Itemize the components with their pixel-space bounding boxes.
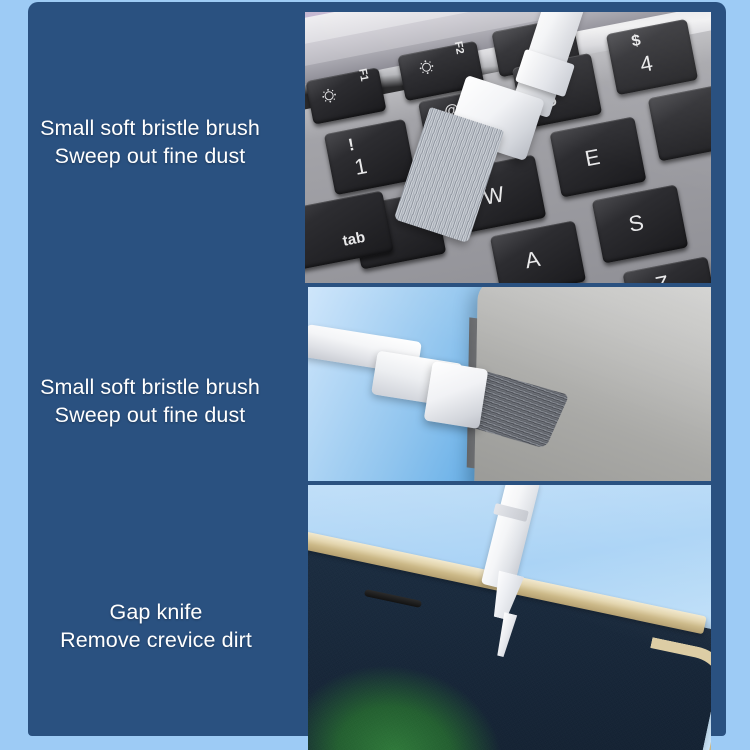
key-e-label: E <box>583 144 602 172</box>
screen-scene <box>308 485 711 750</box>
caption-brush-keyboard: Small soft bristle brush Sweep out fine … <box>24 114 276 170</box>
caption-3-line-1: Gap knife <box>110 600 203 624</box>
key-1-sub: ! <box>347 135 356 156</box>
key-1-label: 1 <box>352 153 369 181</box>
brush-ferrule <box>424 361 489 429</box>
port-scene <box>308 287 711 481</box>
key-a-label: A <box>523 246 542 274</box>
photo-screen-gap-knife <box>308 485 711 750</box>
caption-2-line-2: Sweep out fine dust <box>24 401 276 429</box>
caption-1-line-2: Sweep out fine dust <box>24 142 276 170</box>
key-z-label: Z <box>653 270 671 283</box>
caption-3-line-2: Remove crevice dirt <box>30 626 282 654</box>
caption-1-line-1: Small soft bristle brush <box>40 116 260 140</box>
photo-keyboard-brush: F1 F2 ! 1 @ # 3 $ 4 <box>305 12 711 283</box>
key-tab-label: tab <box>341 229 366 250</box>
caption-2-line-1: Small soft bristle brush <box>40 375 260 399</box>
key-4-sub: $ <box>630 32 642 51</box>
key-f2-label: F2 <box>452 40 466 55</box>
brightness-icon <box>421 62 432 73</box>
key-s-label: S <box>627 210 646 238</box>
brightness-icon <box>324 90 335 101</box>
product-infographic: F1 F2 ! 1 @ # 3 $ 4 <box>0 0 750 750</box>
key-4-label: 4 <box>638 50 655 78</box>
keyboard-scene: F1 F2 ! 1 @ # 3 $ 4 <box>305 12 711 283</box>
caption-gap-knife: Gap knife Remove crevice dirt <box>30 598 282 654</box>
photo-port-brush <box>308 287 711 481</box>
key-f1-label: F1 <box>356 67 370 82</box>
caption-brush-port: Small soft bristle brush Sweep out fine … <box>24 373 276 429</box>
